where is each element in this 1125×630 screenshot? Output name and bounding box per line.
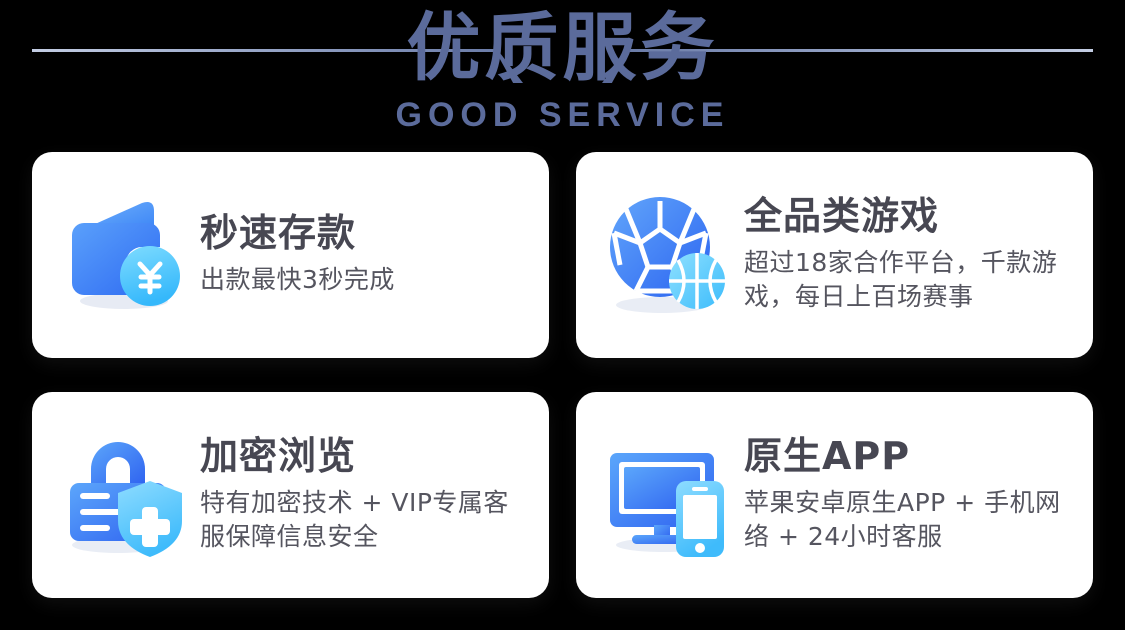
card-text-block: 全品类游戏 超过18家合作平台，千款游戏，每日上百场赛事 xyxy=(734,195,1073,315)
soccer-basketball-icon xyxy=(602,189,734,321)
page-subtitle: GOOD SERVICE xyxy=(0,96,1125,135)
card-text-block: 原生APP 苹果安卓原生APP + 手机网络 + 24小时客服 xyxy=(734,435,1073,555)
feature-card-native-app[interactable]: 原生APP 苹果安卓原生APP + 手机网络 + 24小时客服 xyxy=(576,392,1093,598)
card-text-block: 加密浏览 特有加密技术 + VIP专属客服保障信息安全 xyxy=(190,435,529,555)
card-title: 全品类游戏 xyxy=(744,195,1073,239)
card-description: 超过18家合作平台，千款游戏，每日上百场赛事 xyxy=(744,246,1073,315)
page-root: 优质服务 GOOD SERVICE xyxy=(0,0,1125,630)
page-header: 优质服务 GOOD SERVICE xyxy=(0,0,1125,148)
feature-card-encryption[interactable]: 加密浏览 特有加密技术 + VIP专属客服保障信息安全 xyxy=(32,392,549,598)
card-title: 原生APP xyxy=(744,435,1073,479)
card-title: 加密浏览 xyxy=(200,435,529,479)
feature-card-games[interactable]: 全品类游戏 超过18家合作平台，千款游戏，每日上百场赛事 xyxy=(576,152,1093,358)
page-title: 优质服务 xyxy=(0,8,1125,89)
card-description: 苹果安卓原生APP + 手机网络 + 24小时客服 xyxy=(744,486,1073,555)
card-description: 出款最快3秒完成 xyxy=(200,263,395,298)
feature-card-grid: 秒速存款 出款最快3秒完成 xyxy=(32,152,1093,598)
card-description: 特有加密技术 + VIP专属客服保障信息安全 xyxy=(200,486,529,555)
lock-shield-icon xyxy=(58,429,190,561)
wallet-yen-icon xyxy=(58,189,190,321)
card-title: 秒速存款 xyxy=(200,212,395,256)
card-text-block: 秒速存款 出款最快3秒完成 xyxy=(190,212,395,297)
monitor-phone-icon xyxy=(602,429,734,561)
feature-card-deposit[interactable]: 秒速存款 出款最快3秒完成 xyxy=(32,152,549,358)
